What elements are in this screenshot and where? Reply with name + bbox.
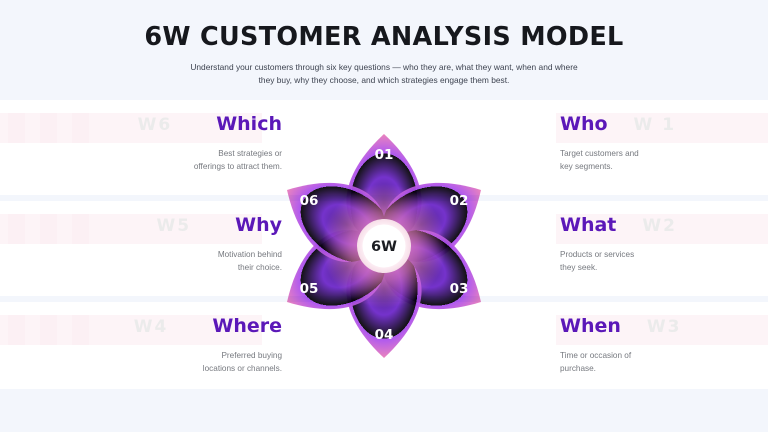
tint-bar-left-2a bbox=[8, 214, 25, 244]
entry-desc-who: Target customers and key segments. bbox=[560, 148, 768, 173]
entry-title-when: When bbox=[560, 315, 621, 337]
entry-when[interactable]: When W3 Time or occasion of purchase. bbox=[560, 315, 768, 375]
slide-canvas: 6W CUSTOMER ANALYSIS MODEL Understand yo… bbox=[0, 0, 768, 432]
entry-title-which: Which bbox=[216, 113, 282, 135]
tint-bar-left-3a bbox=[8, 315, 25, 345]
page-subtitle: Understand your customers through six ke… bbox=[189, 52, 579, 87]
entry-head: W4 Where bbox=[62, 315, 282, 341]
tint-bar-left-2b bbox=[40, 214, 57, 244]
entry-desc-when: Time or occasion of purchase. bbox=[560, 350, 768, 375]
ghost-number-w2: W2 bbox=[642, 216, 677, 236]
entry-head: When W3 bbox=[560, 315, 768, 341]
entry-head: W6 Which bbox=[62, 113, 282, 139]
petal-number-04: 04 bbox=[375, 327, 394, 343]
flower-diagram: 01 02 03 04 05 06 6W bbox=[278, 112, 490, 380]
entry-what[interactable]: What W2 Products or services they seek. bbox=[560, 214, 768, 274]
petal-number-01: 01 bbox=[375, 147, 394, 163]
ghost-number-w6: W6 bbox=[138, 115, 173, 135]
entry-desc-what: Products or services they seek. bbox=[560, 249, 768, 274]
entry-why[interactable]: W5 Why Motivation behind their choice. bbox=[62, 214, 282, 274]
header: 6W CUSTOMER ANALYSIS MODEL Understand yo… bbox=[0, 0, 768, 100]
entry-desc-why: Motivation behind their choice. bbox=[62, 249, 282, 274]
ghost-number-w4: W4 bbox=[134, 317, 169, 337]
ghost-number-w5: W5 bbox=[157, 216, 192, 236]
entry-who[interactable]: Who W 1 Target customers and key segment… bbox=[560, 113, 768, 173]
entry-desc-which: Best strategies or offerings to attract … bbox=[62, 148, 282, 173]
entry-title-why: Why bbox=[235, 214, 282, 236]
entry-title-what: What bbox=[560, 214, 616, 236]
entry-head: What W2 bbox=[560, 214, 768, 240]
entry-head: Who W 1 bbox=[560, 113, 768, 139]
ghost-number-w1: W 1 bbox=[634, 115, 677, 135]
petal-number-05: 05 bbox=[300, 281, 319, 297]
entry-where[interactable]: W4 Where Preferred buying locations or c… bbox=[62, 315, 282, 375]
petal-number-06: 06 bbox=[300, 193, 319, 209]
petal-number-03: 03 bbox=[450, 281, 469, 297]
tint-bar-left-1b bbox=[40, 113, 57, 143]
tint-bar-left-1a bbox=[8, 113, 25, 143]
flower-svg: 01 02 03 04 05 06 6W bbox=[278, 112, 490, 380]
entry-which[interactable]: W6 Which Best strategies or offerings to… bbox=[62, 113, 282, 173]
background-band-bottom bbox=[0, 389, 768, 432]
petal-number-02: 02 bbox=[450, 193, 469, 209]
core-label: 6W bbox=[371, 239, 397, 255]
page-title: 6W CUSTOMER ANALYSIS MODEL bbox=[0, 0, 768, 52]
entry-title-where: Where bbox=[212, 315, 282, 337]
entry-head: W5 Why bbox=[62, 214, 282, 240]
ghost-number-w3: W3 bbox=[647, 317, 682, 337]
tint-bar-left-3b bbox=[40, 315, 57, 345]
entry-title-who: Who bbox=[560, 113, 608, 135]
entry-desc-where: Preferred buying locations or channels. bbox=[62, 350, 282, 375]
